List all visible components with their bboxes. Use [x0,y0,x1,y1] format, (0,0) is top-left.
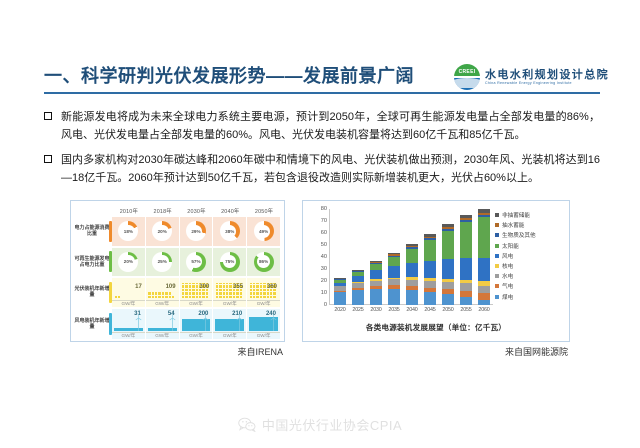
square-bullet-icon [44,155,52,163]
wind-turbine-icon [169,314,176,331]
donut-value: 49% [257,225,270,238]
bar-column [385,209,403,305]
bar-segment [442,282,453,289]
donut-value: 25% [156,255,169,268]
legend-swatch [495,254,499,258]
legend-swatch [495,223,499,227]
irena-cell: 210GW/年 [213,309,247,340]
legend-item: 气电 [495,282,563,290]
bar-segment [460,297,471,305]
irena-cell: 20% [112,248,146,279]
pv-unit: GW/年 [180,300,213,307]
legend-label: 风电 [502,252,513,260]
bar-segment [442,294,453,305]
irena-cell: 240GW/年 [247,309,281,340]
legend-item: 核电 [495,262,563,270]
wind-unit: GW/年 [112,332,145,339]
irena-cell: 75% [213,248,247,279]
pv-value: 355 [233,284,246,290]
irena-figure: 2010年2018年2030年2040年2050年电力占能源消费比重18%20%… [70,200,285,358]
irena-year-header: 2010年 [112,207,146,215]
creei-logo-icon: CREEI [454,64,480,90]
donut-value: 57% [189,255,202,268]
wind-unit: GW/年 [180,332,213,339]
x-axis-labels: 202020252030203520402045205020552060 [331,307,493,319]
bar-segment [424,261,435,278]
legend-swatch [495,264,499,268]
logo-name-en: China Renewable Energy Engineering Insti… [485,81,609,86]
irena-cell: 25% [146,248,180,279]
irena-row-label: 可再生能源发电占电力比重 [74,248,112,279]
bars-container [331,209,493,305]
legend-swatch [495,213,499,217]
legend-item: 非抽蓄储能 [495,211,563,219]
logo-name-cn: 水电水利规划设计总院 [485,69,609,81]
irena-row-label: 光伏装机年新增量 [74,278,112,309]
pv-unit: GW/年 [146,300,179,307]
x-tick-label: 2035 [385,307,403,319]
irena-cell: 31GW/年 [112,309,146,340]
pv-value: 109 [166,284,179,290]
legend-label: 煤电 [502,293,513,301]
pv-unit: GW/年 [247,300,280,307]
irena-source-label: 来自IRENA [70,342,285,358]
bar-segment [388,289,399,305]
donut-gauge: 38% [220,221,240,241]
pv-unit: GW/年 [213,300,246,307]
x-tick-label: 2045 [421,307,439,319]
irena-year-header: 2030年 [180,207,214,215]
wind-turbine-icon [236,314,243,331]
bar-segment [460,222,471,258]
irena-cell: 54GW/年 [146,309,180,340]
chart-source-label: 来自国网能源院 [302,342,570,358]
bullet-text: 国内多家机构对2030年碳达峰和2060年碳中和情境下的风电、光伏装机做出预测，… [61,151,600,187]
pv-unit: GW/年 [112,300,145,307]
donut-value: 29% [189,225,202,238]
legend-swatch [495,295,499,299]
donut-gauge: 75% [220,252,240,272]
watermark-text: 中国光伏行业协会CPIA [262,415,402,434]
irena-cell: 360GW/年 [247,278,281,309]
irena-year-header: 2040年 [213,207,247,215]
organization-logo: CREEI 水电水利规划设计总院 China Renewable Energy … [454,64,609,90]
bar-segment [424,240,435,262]
bar-column [421,209,439,305]
page-title: 一、科学研判光伏发展形势——发展前景广阔 [44,62,414,88]
legend-swatch [495,233,499,237]
bar-column [439,209,457,305]
bar-column [475,209,493,305]
bar-segment [406,290,417,305]
footer-watermark: 中国光伏行业协会CPIA [0,415,640,434]
y-axis: 01020304050607080 [307,209,329,305]
bar-segment [478,300,489,305]
legend-label: 水电 [502,272,513,280]
y-tick-label: 60 [321,230,327,236]
legend-item: 太阳能 [495,242,563,250]
legend-item: 水电 [495,272,563,280]
x-tick-label: 2025 [349,307,367,319]
power-mix-figure: 01020304050607080 2020202520302035204020… [302,200,570,358]
irena-cell: 300GW/年 [180,278,214,309]
x-tick-label: 2055 [457,307,475,319]
pv-value: 17 [135,284,145,290]
donut-gauge: 57% [186,252,206,272]
legend-item: 生物质及其他 [495,231,563,239]
bar-segment [370,289,381,305]
bar-segment [478,286,489,294]
x-tick-label: 2030 [367,307,385,319]
wind-turbine-icon [135,314,142,331]
bullet-item: 国内多家机构对2030年碳达峰和2060年碳中和情境下的风电、光伏装机做出预测，… [44,151,600,187]
y-tick-label: 30 [321,266,327,272]
bar-segment [478,217,489,258]
donut-gauge: 49% [254,221,274,241]
irena-row-label: 风电装机年新增量 [74,309,112,340]
irena-cell: 200GW/年 [180,309,214,340]
bar-column [349,209,367,305]
irena-corner-cell [74,204,112,217]
irena-cell: 49% [247,217,281,248]
y-tick-label: 0 [324,302,327,308]
wind-turbine-icon [202,314,209,331]
bar-column [331,209,349,305]
bar-segment [460,283,471,290]
irena-cell: 29% [180,217,214,248]
legend-label: 太阳能 [502,242,519,250]
bullet-list: 新能源发电将成为未来全球电力系统主要电源，预计到2050年，全球可再生能源发电量… [44,108,600,194]
wind-bar: 240 [247,311,280,331]
wind-unit: GW/年 [247,332,280,339]
y-axis-line [329,209,330,305]
bar-column [403,209,421,305]
bar-segment [406,249,417,263]
y-tick-label: 10 [321,290,327,296]
irena-cell: 17GW/年 [112,278,146,309]
irena-year-header: 2018年 [146,207,180,215]
irena-cell: 18% [112,217,146,248]
bar-segment [442,259,453,278]
y-tick-label: 70 [321,218,327,224]
pv-value: 360 [267,284,280,290]
logo-mark-text: CREEI [454,69,480,75]
bar-segment [406,263,417,277]
bar-segment [388,266,399,278]
figure-row: 2010年2018年2030年2040年2050年电力占能源消费比重18%20%… [70,200,570,368]
legend-swatch [495,274,499,278]
wind-unit: GW/年 [146,332,179,339]
x-tick-label: 2050 [439,307,457,319]
chart-title: 各类电源装机发展展望（单位：亿千瓦） [307,322,565,333]
x-tick-label: 2060 [475,307,493,319]
irena-year-header: 2050年 [247,207,281,215]
y-tick-label: 40 [321,254,327,260]
donut-value: 86% [257,255,270,268]
wind-bar: 210 [213,311,246,331]
wind-bar: 200 [180,311,213,331]
donut-value: 20% [156,225,169,238]
bar-segment [370,270,381,280]
wind-bar: 31 [112,311,145,331]
donut-gauge: 25% [152,252,172,272]
wind-turbine-icon [270,314,277,331]
legend-item: 抽水蓄能 [495,221,563,229]
irena-cell: 109GW/年 [146,278,180,309]
donut-gauge: 29% [186,221,206,241]
irena-cell: 20% [146,217,180,248]
logo-text-block: 水电水利规划设计总院 China Renewable Energy Engine… [485,69,609,86]
y-tick-label: 80 [321,206,327,212]
bar-segment [334,292,345,305]
donut-gauge: 20% [152,221,172,241]
bar-segment [478,258,489,281]
y-tick-label: 20 [321,278,327,284]
bar-segment [424,292,435,305]
irena-table: 2010年2018年2030年2040年2050年电力占能源消费比重18%20%… [74,204,281,339]
chart-plot-area: 01020304050607080 2020202520302035204020… [307,207,565,319]
legend-swatch [495,244,499,248]
chart-frame: 01020304050607080 2020202520302035204020… [302,200,570,342]
bar-segment [388,257,399,266]
donut-gauge: 86% [254,252,274,272]
bullet-text: 新能源发电将成为未来全球电力系统主要电源，预计到2050年，全球可再生能源发电量… [61,108,600,144]
title-underline [44,92,600,94]
bar-segment [424,281,435,288]
donut-value: 20% [122,255,135,268]
slide-header: 一、科学研判光伏发展形势——发展前景广阔 CREEI 水电水利规划设计总院 Ch… [44,62,600,96]
x-tick-label: 2020 [331,307,349,319]
irena-cell: 355GW/年 [213,278,247,309]
irena-row-label: 电力占能源消费比重 [74,217,112,248]
donut-gauge: 18% [118,221,138,241]
wechat-icon [238,417,256,432]
bar-segment [460,258,471,280]
irena-cell: 38% [213,217,247,248]
wind-bar: 54 [146,311,179,331]
irena-table-frame: 2010年2018年2030年2040年2050年电力占能源消费比重18%20%… [70,200,285,342]
donut-value: 75% [223,255,236,268]
slide-canvas: 一、科学研判光伏发展形势——发展前景广阔 CREEI 水电水利规划设计总院 Ch… [0,0,640,448]
donut-gauge: 20% [118,252,138,272]
donut-value: 18% [122,225,135,238]
legend-swatch [495,284,499,288]
legend-label: 抽水蓄能 [502,221,524,229]
pv-value: 300 [199,284,212,290]
donut-value: 38% [223,225,236,238]
bar-segment [352,290,363,305]
bullet-item: 新能源发电将成为未来全球电力系统主要电源，预计到2050年，全球可再生能源发电量… [44,108,600,144]
irena-cell: 57% [180,248,214,279]
x-tick-label: 2040 [403,307,421,319]
bar-column [367,209,385,305]
legend-label: 气电 [502,282,513,290]
legend-label: 生物质及其他 [502,231,536,239]
legend-label: 核电 [502,262,513,270]
legend-item: 风电 [495,252,563,260]
bar-column [457,209,475,305]
square-bullet-icon [44,112,52,120]
bar-segment [442,231,453,260]
y-tick-label: 50 [321,242,327,248]
irena-cell: 86% [247,248,281,279]
legend-label: 非抽蓄储能 [502,211,530,219]
legend-item: 煤电 [495,293,563,301]
wind-unit: GW/年 [213,332,246,339]
chart-legend: 非抽蓄储能抽水蓄能生物质及其他太阳能风电核电水电气电煤电 [495,211,563,303]
